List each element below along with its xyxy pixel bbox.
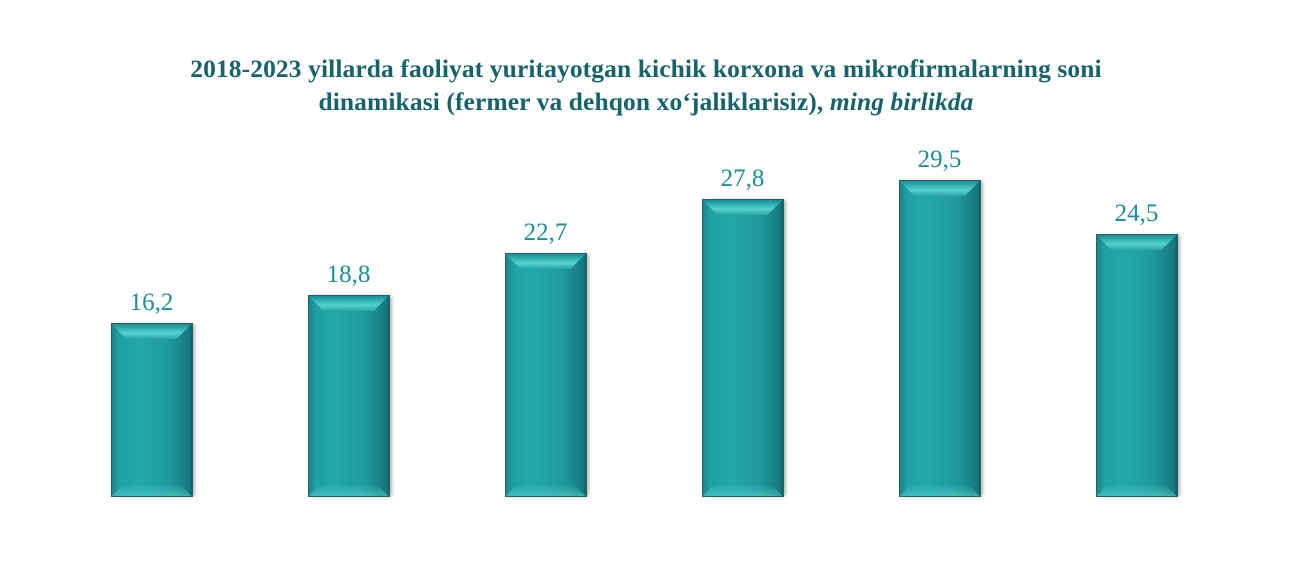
bar[interactable] bbox=[505, 253, 587, 497]
chart-title-line-1: 2018-2023 yillarda faoliyat yuritayotgan… bbox=[190, 54, 1102, 83]
bar[interactable] bbox=[702, 199, 784, 497]
bar-chart: 2018-2023 yillarda faoliyat yuritayotgan… bbox=[0, 0, 1292, 586]
bar-value-label: 22,7 bbox=[447, 219, 644, 247]
bar-value-label: 16,2 bbox=[53, 289, 250, 317]
bar-value-label: 18,8 bbox=[250, 261, 447, 289]
chart-title-line-2-regular: dinamikasi (fermer va dehqon xo‘jaliklar… bbox=[318, 87, 829, 116]
bar[interactable] bbox=[111, 323, 193, 497]
bar-slot: 22,7 bbox=[447, 132, 644, 497]
bar-slot: 16,2 bbox=[53, 132, 250, 497]
bar-slot: 18,8 bbox=[250, 132, 447, 497]
bar-value-label: 27,8 bbox=[644, 165, 841, 193]
bar[interactable] bbox=[899, 180, 981, 497]
bar-slot: 27,8 bbox=[644, 132, 841, 497]
bar-value-label: 24,5 bbox=[1038, 200, 1235, 228]
bars-layer: 16,218,822,727,829,524,5 bbox=[53, 132, 1235, 497]
bar[interactable] bbox=[308, 295, 390, 497]
bar[interactable] bbox=[1096, 234, 1178, 497]
chart-title-unit-emphasis: ming birlikda bbox=[830, 87, 974, 116]
chart-title: 2018-2023 yillarda faoliyat yuritayotgan… bbox=[46, 52, 1246, 118]
bar-value-label: 29,5 bbox=[841, 146, 1038, 174]
bar-slot: 29,5 bbox=[841, 132, 1038, 497]
plot-area: 16,218,822,727,829,524,5 01.04.2018- y.0… bbox=[0, 132, 1292, 500]
bar-slot: 24,5 bbox=[1038, 132, 1235, 497]
